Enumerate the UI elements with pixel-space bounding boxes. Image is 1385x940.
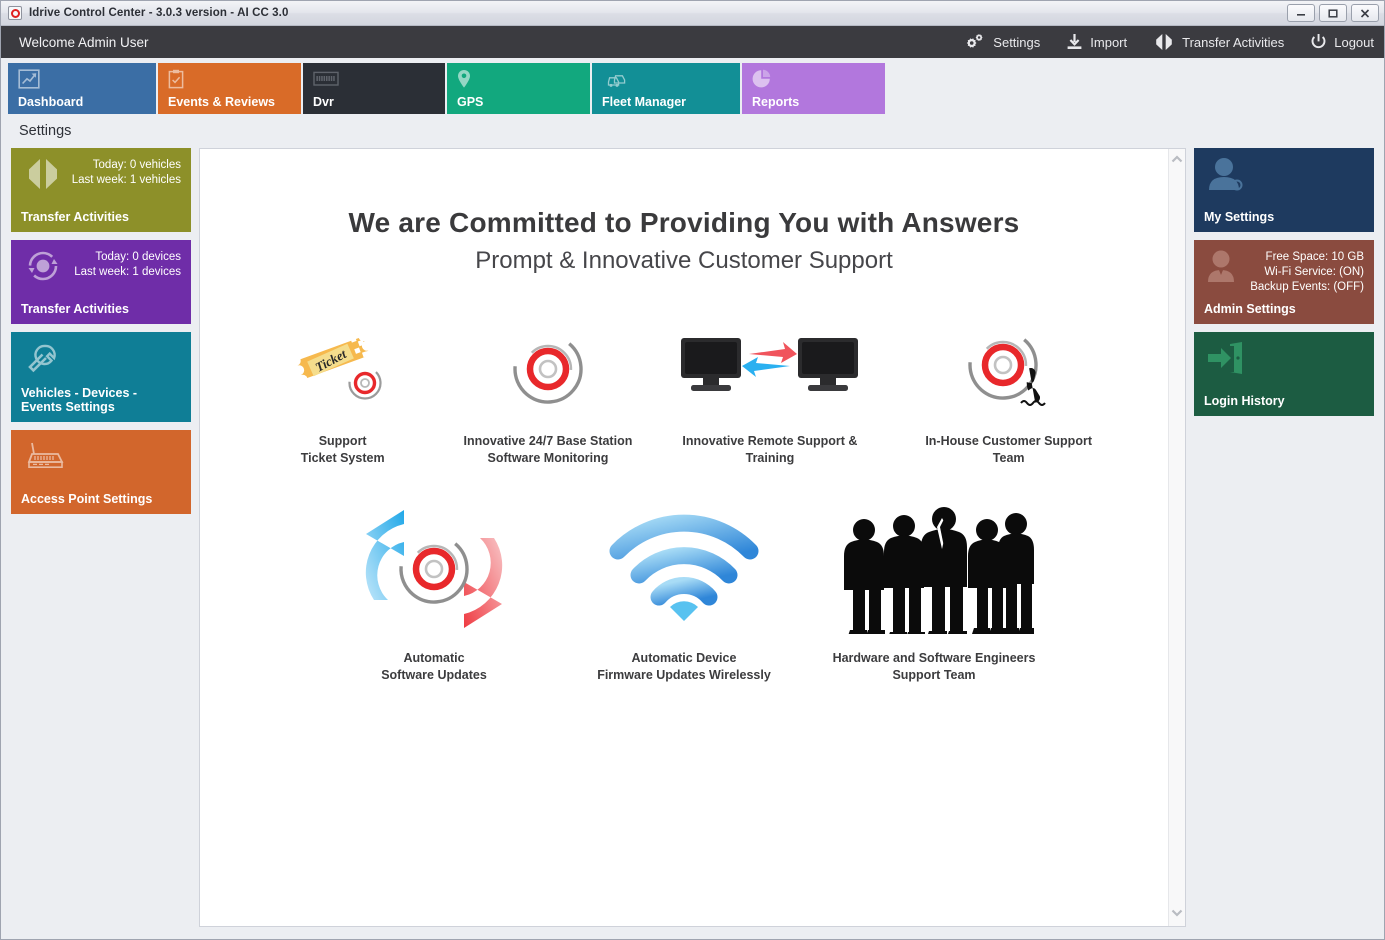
tab-dvr-label: Dvr (313, 95, 435, 114)
user-profile-icon (1204, 156, 1250, 196)
tile-stat-line: Last week: 1 vehicles (72, 173, 181, 188)
header-logout-button[interactable]: Logout (1310, 33, 1374, 51)
content-panel: We are Committed to Providing You with A… (199, 148, 1186, 927)
breadcrumb: Settings (1, 114, 1384, 148)
chevron-up-icon[interactable] (1171, 155, 1183, 166)
software-update-icon (344, 501, 524, 636)
header-transfer-activities-button[interactable]: Transfer Activities (1153, 33, 1284, 51)
tab-dashboard[interactable]: Dashboard (8, 63, 156, 114)
header-settings-button[interactable]: Settings (966, 33, 1040, 51)
header-logout-label: Logout (1334, 35, 1374, 50)
close-button[interactable] (1351, 4, 1379, 22)
router-icon (21, 438, 67, 478)
pie-chart-icon (752, 68, 875, 90)
header-transfer-activities-label: Transfer Activities (1182, 35, 1284, 50)
left-sidebar: Today: 0 vehicles Last week: 1 vehicles … (11, 148, 191, 927)
tab-gps-label: GPS (457, 95, 580, 114)
page-body: Today: 0 vehicles Last week: 1 vehicles … (1, 148, 1384, 939)
header-actions: Settings Import Transf (966, 33, 1374, 51)
sidebar-item-label: Login History (1204, 388, 1364, 408)
feature-row-1: Ticket (240, 319, 1128, 467)
title-bar: Idrive Control Center - 3.0.3 version - … (1, 1, 1384, 26)
transfer-arrows-icon (1153, 33, 1175, 51)
header-import-label: Import (1090, 35, 1127, 50)
feature-remote-support-training: Innovative Remote Support &Training (651, 319, 890, 467)
window-title: Idrive Control Center - 3.0.3 version - … (29, 7, 288, 19)
tile-stat-line: Free Space: 10 GB (1250, 250, 1364, 265)
sidebar-item-label: My Settings (1204, 204, 1364, 224)
tab-gps[interactable]: GPS (447, 63, 590, 114)
wifi-signal-icon (604, 501, 764, 636)
remote-monitors-icon (677, 319, 862, 419)
feature-engineers-support-team: Hardware and Software EngineersSupport T… (809, 501, 1059, 684)
app-header: Welcome Admin User Settings (1, 26, 1384, 58)
tile-stats: Today: 0 vehicles Last week: 1 vehicles (72, 156, 181, 188)
page-headline: We are Committed to Providing You with A… (200, 207, 1168, 239)
download-icon (1066, 33, 1083, 51)
tile-stats: Free Space: 10 GB Wi-Fi Service: (ON) Ba… (1250, 248, 1364, 295)
maximize-button[interactable] (1319, 4, 1347, 22)
feature-grid: Ticket (200, 319, 1168, 684)
feature-automatic-software-updates: AutomaticSoftware Updates (309, 501, 559, 684)
app-window: Idrive Control Center - 3.0.3 version - … (0, 0, 1385, 940)
sidebar-item-label: Transfer Activities (21, 204, 181, 224)
sidebar-item-vehicles-devices-events-settings[interactable]: Vehicles - Devices - Events Settings (11, 332, 191, 422)
feature-row-2: AutomaticSoftware Updates (240, 501, 1128, 684)
right-sidebar: My Settings Free Space: 10 GB Wi-Fi Serv… (1194, 148, 1374, 927)
tile-stats: Today: 0 devices Last week: 1 devices (74, 248, 181, 280)
tile-stat-line: Last week: 1 devices (74, 265, 181, 280)
sync-circle-icon (21, 248, 67, 288)
feature-caption: Hardware and Software EngineersSupport T… (833, 650, 1036, 684)
tab-dvr[interactable]: Dvr (303, 63, 445, 114)
feature-in-house-support-team: In-House Customer SupportTeam (889, 319, 1128, 467)
main-navigation-tabs: Dashboard Events & Reviews (1, 58, 1384, 114)
tab-dashboard-label: Dashboard (18, 95, 146, 114)
wrench-icon (21, 340, 67, 380)
support-phone-icon (959, 319, 1059, 419)
map-pin-icon (457, 68, 580, 90)
tab-reports-label: Reports (752, 95, 875, 114)
tab-events-reviews[interactable]: Events & Reviews (158, 63, 301, 114)
support-ticket-icon: Ticket (291, 319, 395, 419)
app-logo-icon (8, 6, 22, 20)
sidebar-item-label: Access Point Settings (21, 486, 181, 506)
engineers-team-icon (834, 501, 1034, 636)
chevron-down-icon[interactable] (1171, 909, 1183, 920)
monitoring-target-icon (505, 319, 591, 419)
vehicles-icon (602, 68, 730, 90)
feature-caption: Automatic DeviceFirmware Updates Wireles… (597, 650, 771, 684)
window-controls (1287, 4, 1379, 22)
tab-fleet-manager-label: Fleet Manager (602, 95, 730, 114)
feature-base-station-monitoring: Innovative 24/7 Base StationSoftware Mon… (445, 319, 650, 467)
sidebar-item-label: Transfer Activities (21, 296, 181, 316)
content-vertical-scrollbar[interactable] (1168, 149, 1185, 926)
tile-stat-line: Today: 0 devices (74, 250, 181, 265)
admin-user-icon (1204, 248, 1250, 288)
feature-caption: In-House Customer SupportTeam (925, 433, 1092, 467)
welcome-message: Welcome Admin User (19, 35, 149, 50)
gears-icon (966, 33, 986, 51)
header-import-button[interactable]: Import (1066, 33, 1127, 51)
sidebar-item-access-point-settings[interactable]: Access Point Settings (11, 430, 191, 514)
breadcrumb-label: Settings (19, 123, 71, 139)
clipboard-check-icon (168, 68, 291, 90)
feature-support-ticket-system: Ticket (240, 319, 445, 467)
sidebar-item-label: Admin Settings (1204, 296, 1364, 316)
tab-reports[interactable]: Reports (742, 63, 885, 114)
chart-arrow-icon (18, 68, 146, 90)
feature-caption: Innovative Remote Support &Training (682, 433, 857, 467)
page-subheadline: Prompt & Innovative Customer Support (200, 247, 1168, 275)
tile-stat-line: Wi-Fi Service: (ON) (1250, 265, 1364, 280)
content-scroll-area: We are Committed to Providing You with A… (200, 149, 1168, 926)
dvr-box-icon (313, 68, 435, 90)
header-settings-label: Settings (993, 35, 1040, 50)
sidebar-item-login-history[interactable]: Login History (1194, 332, 1374, 416)
feature-automatic-firmware-updates: Automatic DeviceFirmware Updates Wireles… (559, 501, 809, 684)
feature-caption: AutomaticSoftware Updates (381, 650, 487, 684)
tab-fleet-manager[interactable]: Fleet Manager (592, 63, 740, 114)
sidebar-item-my-settings[interactable]: My Settings (1194, 148, 1374, 232)
feature-caption: Innovative 24/7 Base StationSoftware Mon… (464, 433, 633, 467)
power-icon (1310, 33, 1327, 51)
transfer-arrows-icon (21, 156, 67, 196)
sidebar-item-admin-settings[interactable]: Free Space: 10 GB Wi-Fi Service: (ON) Ba… (1194, 240, 1374, 324)
feature-caption: SupportTicket System (301, 433, 385, 467)
sidebar-item-transfer-activities-vehicles[interactable]: Today: 0 vehicles Last week: 1 vehicles … (11, 148, 191, 232)
tile-stat-line: Today: 0 vehicles (72, 158, 181, 173)
tile-stat-line: Backup Events: (OFF) (1250, 280, 1364, 295)
sidebar-item-transfer-activities-devices[interactable]: Today: 0 devices Last week: 1 devices Tr… (11, 240, 191, 324)
sidebar-item-label: Vehicles - Devices - Events Settings (21, 380, 181, 414)
tab-events-reviews-label: Events & Reviews (168, 95, 291, 114)
login-door-icon (1204, 340, 1250, 380)
minimize-button[interactable] (1287, 4, 1315, 22)
